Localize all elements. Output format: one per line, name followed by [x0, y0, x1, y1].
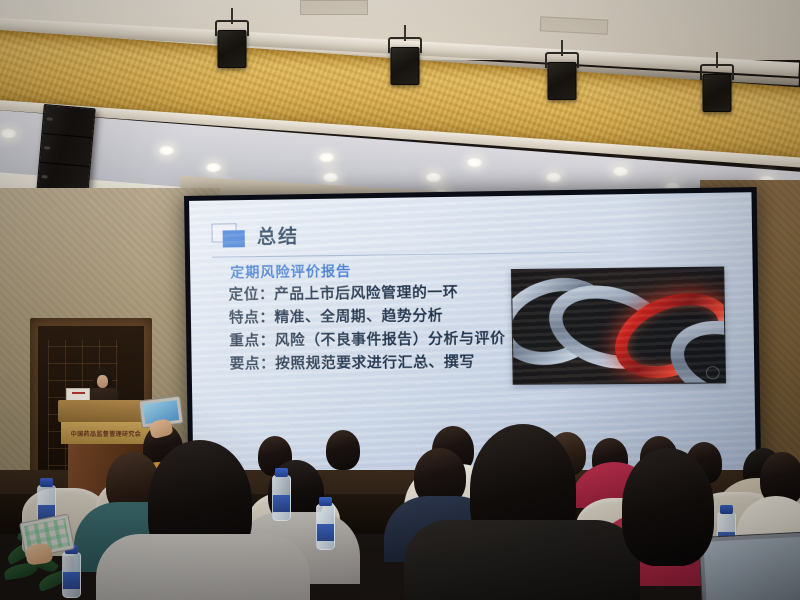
stage-light-body — [218, 30, 247, 68]
downlight — [0, 128, 17, 139]
speaker-handle — [47, 117, 53, 121]
bottle-cap — [319, 497, 332, 506]
title-divider — [212, 250, 717, 257]
bottle-label — [63, 572, 80, 589]
downlight — [425, 172, 442, 183]
downlight — [158, 145, 175, 156]
laptop-screen[interactable] — [703, 536, 800, 600]
downlight — [612, 166, 629, 177]
podium-nameplate: 中国药品监督管理研究会 — [61, 422, 151, 444]
stage-light-fixture — [700, 52, 734, 114]
slide-body-line: 重点：风险（不良事件报告）分析与评价 — [229, 328, 535, 353]
bottle-cap — [275, 468, 288, 477]
chain-link-photo — [511, 267, 726, 385]
bottle-cap — [720, 505, 733, 514]
chain-photo-watermark-icon — [706, 366, 720, 379]
slide-body-line: 定位：产品上市后风险管理的一环 — [228, 281, 534, 307]
stage-light-fixture — [388, 25, 422, 87]
downlight — [205, 162, 222, 173]
slide-body-line: 要点：按照规范要求进行汇总、撰写 — [230, 351, 536, 376]
podium-nameplate-text: 中国药品监督管理研究会 — [71, 429, 141, 438]
slide-body: 定位：产品上市后风险管理的一环 特点：精准、全周期、趋势分析 重点：风险（不良事… — [228, 281, 535, 377]
water-bottle — [316, 504, 335, 550]
water-bottle — [62, 552, 81, 598]
speaker-seam — [42, 133, 92, 138]
audience-shoulders-foreground — [96, 534, 310, 600]
audience-head — [326, 430, 360, 470]
speaker-handle — [44, 146, 50, 150]
bottle-label — [273, 495, 290, 512]
stage-light-body — [703, 74, 732, 112]
square-bullet-icon — [211, 223, 246, 250]
speaker-handle — [41, 175, 47, 179]
laptop-device[interactable] — [698, 531, 800, 600]
downlight — [322, 172, 339, 183]
stage-light-fixture — [215, 8, 249, 70]
bottle-label — [317, 524, 334, 541]
audience-shoulders-foreground — [404, 520, 640, 600]
square-filled-icon — [223, 230, 245, 247]
line-array-speaker — [36, 104, 95, 196]
downlight — [466, 157, 483, 168]
stage-light-fixture — [545, 40, 579, 102]
slide-subtitle: 定期风险评价报告 — [230, 261, 351, 283]
bottle-cap — [40, 478, 53, 487]
speaker-seam — [40, 162, 90, 167]
audience-head-foreground — [622, 448, 714, 566]
slide-header: 总结 — [211, 221, 299, 249]
downlight — [545, 172, 562, 183]
stage-light-body — [548, 62, 577, 100]
ceiling-vent — [300, 0, 368, 15]
downlight — [318, 152, 335, 163]
water-bottle — [272, 475, 291, 521]
presenter-face — [97, 375, 108, 388]
slide-body-line: 特点：精准、全周期、趋势分析 — [229, 304, 535, 329]
conference-photo: 总结 定期风险评价报告 定位：产品上市后风险管理的一环 特点：精准、全周期、趋势… — [0, 0, 800, 600]
stage-light-body — [391, 47, 420, 85]
slide-title: 总结 — [257, 221, 300, 249]
